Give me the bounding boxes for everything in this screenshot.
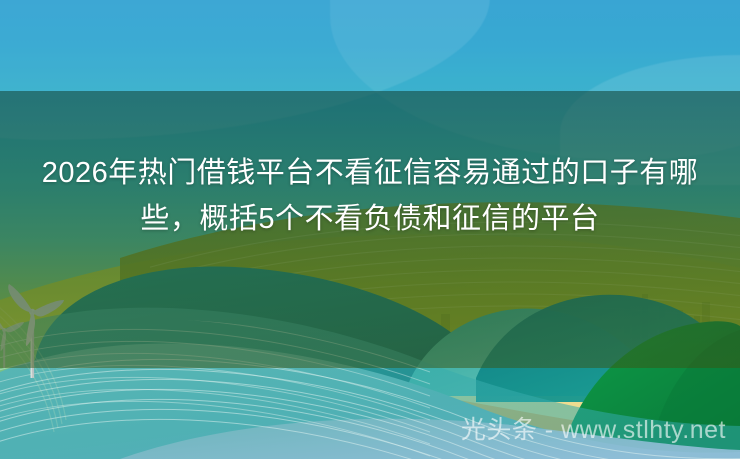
poster-canvas: 2026年热门借钱平台不看征信容易通过的口子有哪些，概括5个不看负债和征信的平台… xyxy=(0,0,740,459)
page-title: 2026年热门借钱平台不看征信容易通过的口子有哪些，概括5个不看负债和征信的平台 xyxy=(36,150,704,242)
watermark-text: 光头条 - www.stlhty.net xyxy=(461,415,726,445)
